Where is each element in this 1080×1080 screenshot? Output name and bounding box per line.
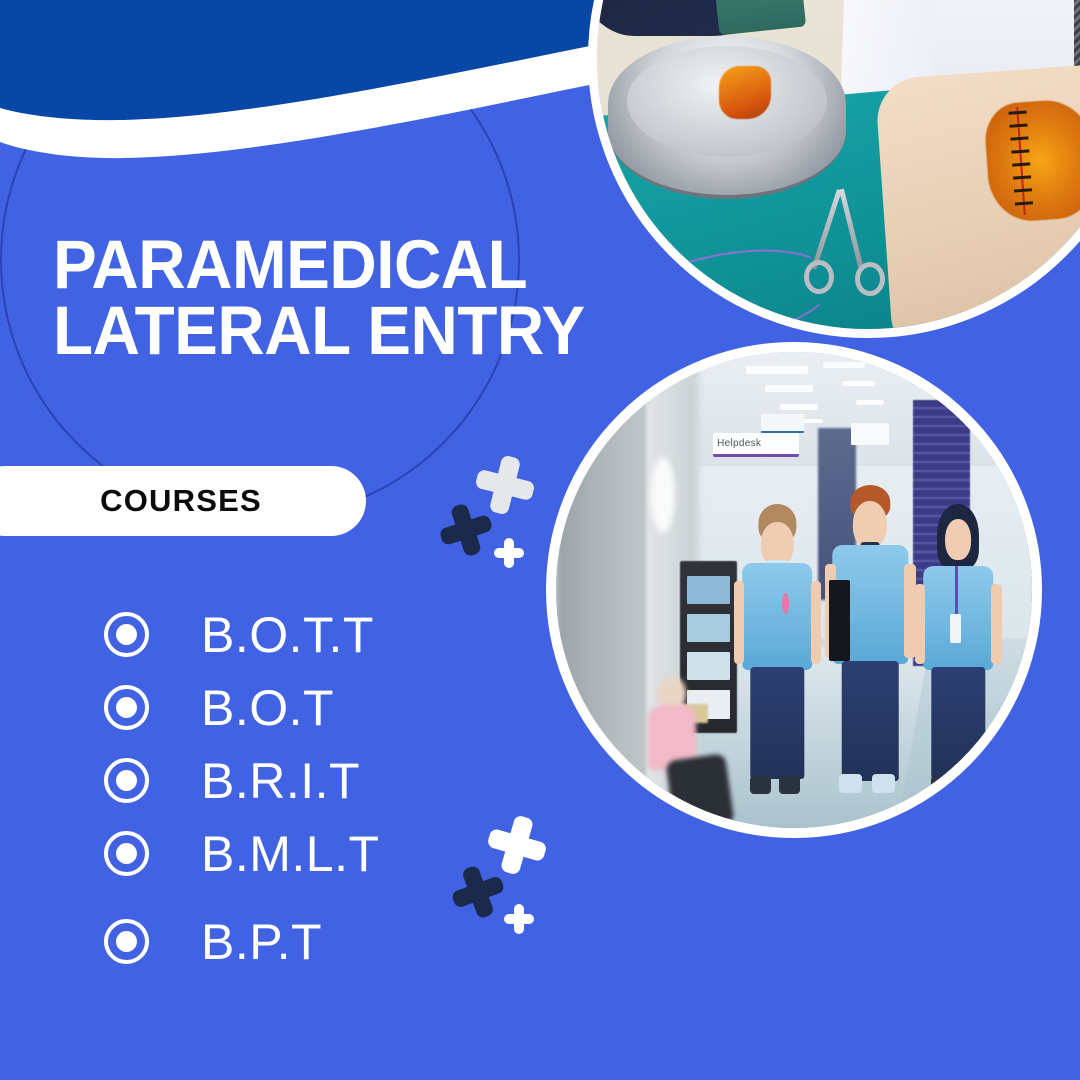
paramedical-lateral-entry-poster: PARAMEDICAL LATERAL ENTRY COURSES B.O.T.… [0, 0, 1080, 1080]
course-label: B.O.T [201, 683, 334, 733]
hospital-corridor-students-photo: Helpdesk [546, 342, 1042, 838]
list-item[interactable]: B.O.T [104, 671, 524, 744]
student-figure [918, 504, 999, 799]
course-label: B.O.T.T [201, 610, 374, 660]
target-circle-icon [104, 919, 149, 964]
page-title-line2: LATERAL ENTRY [53, 298, 642, 364]
helpdesk-sign-label: Helpdesk [717, 438, 761, 449]
plus-sparkle-icon [470, 450, 540, 520]
list-item[interactable]: B.M.L.T [104, 817, 524, 890]
course-label: B.M.L.T [201, 829, 380, 879]
student-figure [827, 485, 913, 799]
courses-section-badge: COURSES [0, 466, 366, 536]
helpdesk-sign: Helpdesk [713, 433, 799, 457]
course-label: B.R.I.T [201, 756, 360, 806]
page-title-line1: PARAMEDICAL [53, 232, 642, 298]
course-label: B.P.T [201, 917, 322, 967]
target-circle-icon [104, 831, 149, 876]
course-list: B.O.T.T B.O.T B.R.I.T B.M.L.T B.P.T [104, 598, 524, 978]
target-circle-icon [104, 612, 149, 657]
list-item[interactable]: B.R.I.T [104, 744, 524, 817]
list-item[interactable]: B.O.T.T [104, 598, 524, 671]
student-figure [737, 504, 818, 799]
plus-sparkle-icon [494, 538, 524, 568]
page-title: PARAMEDICAL LATERAL ENTRY [53, 232, 642, 364]
plus-sparkle-icon [433, 497, 499, 563]
plus-sparkle-cluster-upper [432, 448, 562, 578]
target-circle-icon [104, 685, 149, 730]
courses-section-badge-label: COURSES [100, 483, 262, 519]
suturing-practice-photo [588, 0, 1080, 338]
list-item[interactable]: B.P.T [104, 905, 524, 978]
target-circle-icon [104, 758, 149, 803]
